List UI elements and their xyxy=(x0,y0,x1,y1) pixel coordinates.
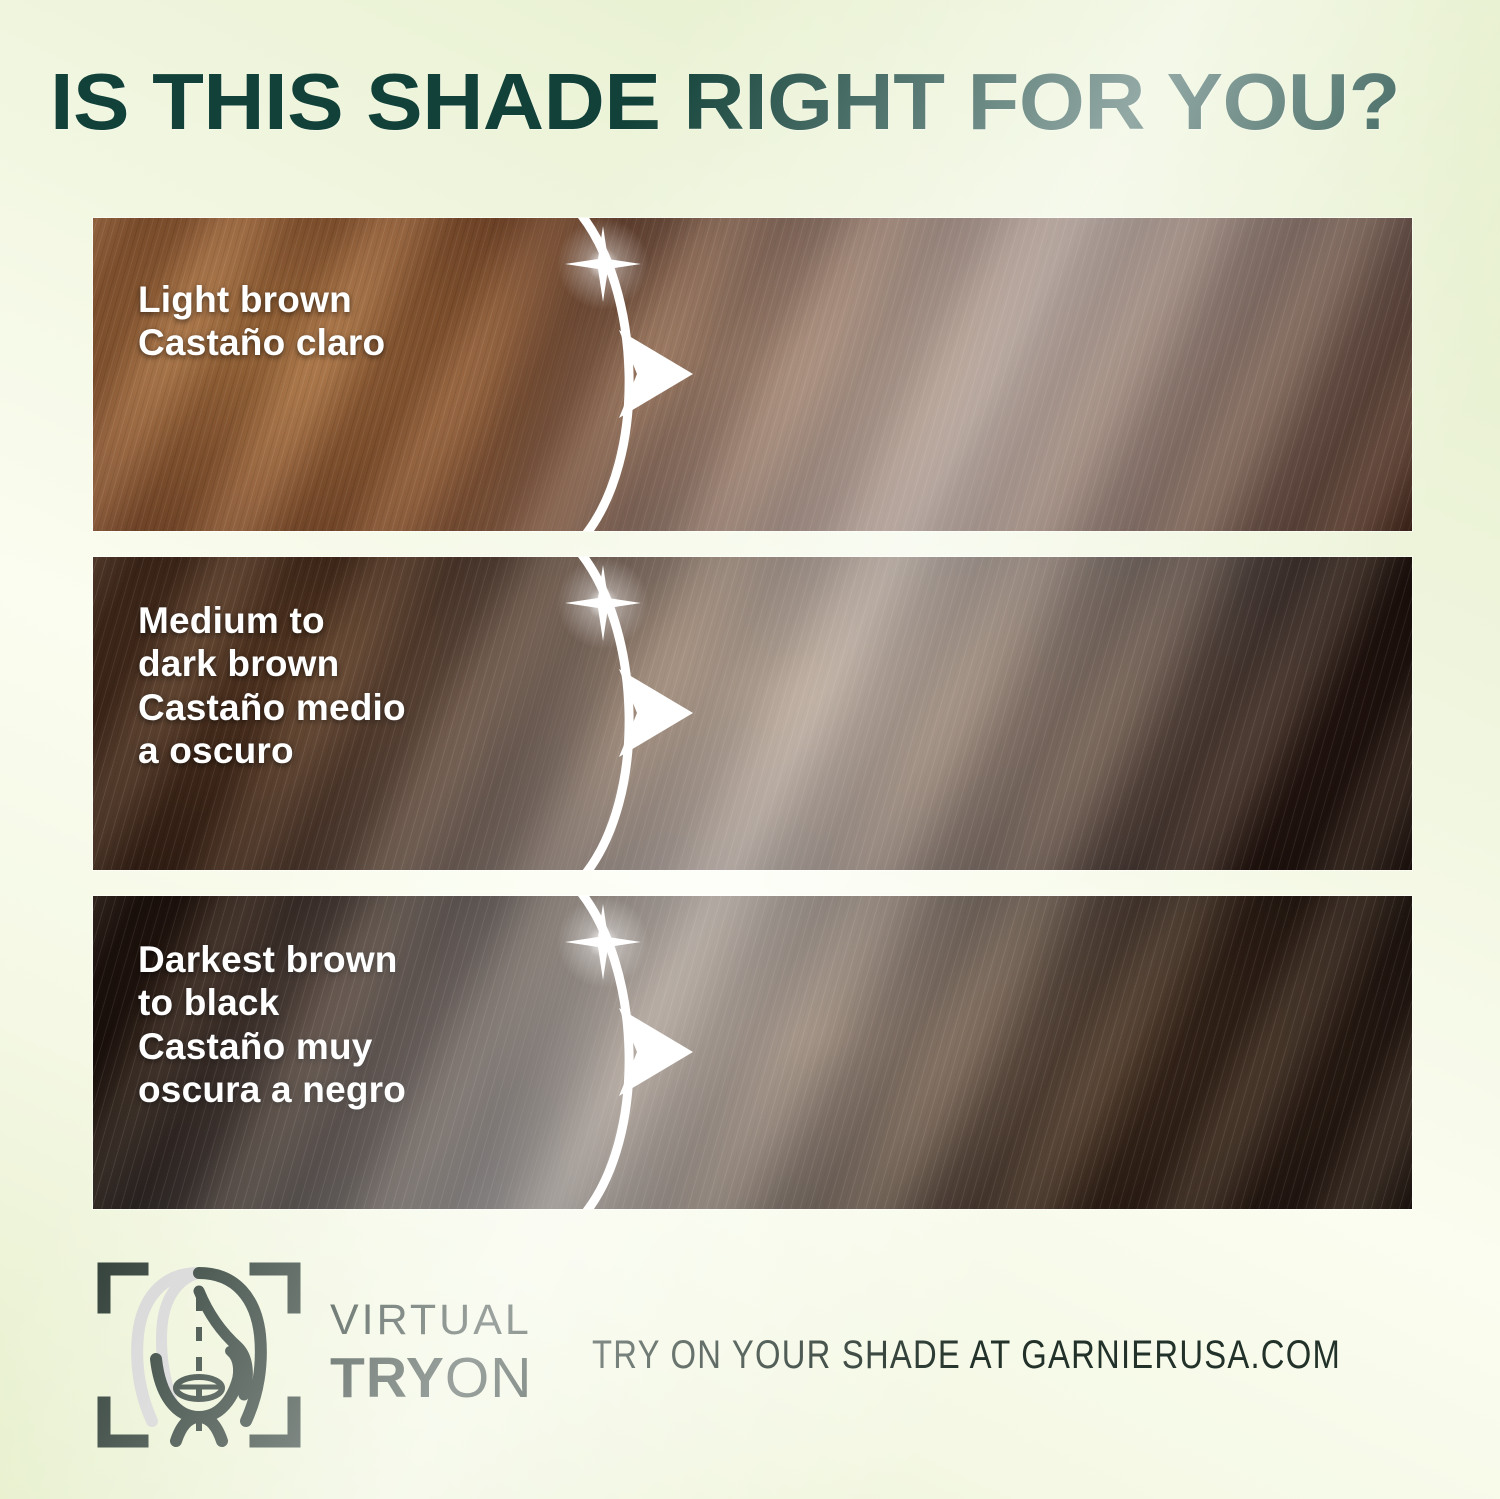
face-scan-icon xyxy=(90,1255,308,1455)
shade-guide-page: IS THIS SHADE RIGHT FOR YOU? xyxy=(0,0,1500,1499)
shade-panel-light-brown: Light brown Castaño claro xyxy=(93,218,1412,531)
logo-on: ON xyxy=(445,1346,533,1410)
hair-wave-texture xyxy=(396,896,1412,1209)
footer: VIRTUAL TRYON TRY ON YOUR SHADE AT GARNI… xyxy=(90,1250,1430,1460)
hair-wave-texture xyxy=(396,557,1412,870)
hair-after-swatch xyxy=(489,557,1412,870)
panel-caption: Medium to dark brown Castaño medio a osc… xyxy=(138,599,406,772)
page-title: IS THIS SHADE RIGHT FOR YOU? xyxy=(50,62,1500,142)
shade-panel-medium-to-dark-brown: Medium to dark brown Castaño medio a osc… xyxy=(93,557,1412,870)
hair-wave-texture xyxy=(396,218,1412,531)
panel-caption: Darkest brown to black Castaño muy oscur… xyxy=(138,938,406,1111)
logo-line-tryon: TRYON xyxy=(330,1350,532,1407)
tagline: TRY ON YOUR SHADE AT GARNIERUSA.COM xyxy=(592,1333,1341,1378)
virtual-try-on-wordmark: VIRTUAL TRYON xyxy=(330,1299,532,1411)
hair-after-swatch xyxy=(489,218,1412,531)
panel-caption: Light brown Castaño claro xyxy=(138,278,385,365)
logo-try: TRY xyxy=(330,1346,445,1410)
logo-line-virtual: VIRTUAL xyxy=(330,1299,532,1342)
shade-panel-darkest-brown-to-black: Darkest brown to black Castaño muy oscur… xyxy=(93,896,1412,1209)
virtual-try-on-logo[interactable]: VIRTUAL TRYON xyxy=(90,1255,532,1455)
hair-after-swatch xyxy=(489,896,1412,1209)
